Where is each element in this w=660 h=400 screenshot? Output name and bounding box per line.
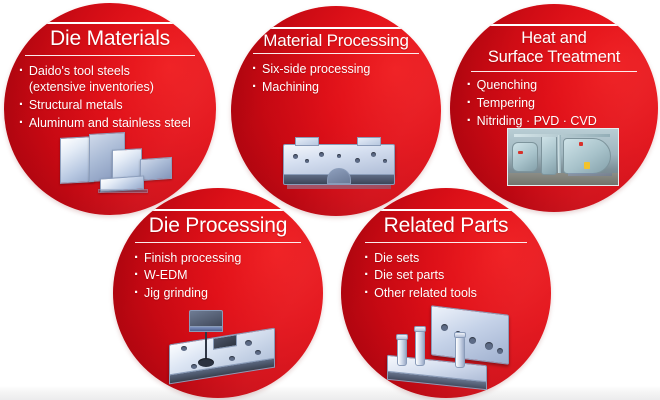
title-block-die-processing: Die Processing (135, 209, 301, 243)
bullet-list-heat-treatment: Quenching Tempering Nitriding · PVD · CV… (467, 77, 642, 131)
circle-die-materials[interactable]: Die Materials Daido's tool steels (exten… (4, 3, 216, 215)
circle-title: Die Materials (25, 24, 195, 55)
list-item: Quenching (467, 77, 642, 94)
list-item: Finish processing (134, 250, 302, 267)
list-item: W-EDM (134, 267, 302, 284)
bottom-gray-band (0, 386, 660, 400)
list-item: Die sets (364, 250, 528, 267)
furnace-chamber-left (512, 142, 538, 172)
diagram-canvas: Die Materials Daido's tool steels (exten… (0, 0, 660, 400)
title-block-material-processing: Material Processing (253, 27, 419, 54)
bullet-list-die-materials: Daido's tool steels (extensive inventori… (19, 63, 201, 134)
circle-title: Heat and Surface Treatment (471, 26, 637, 71)
circle-related-parts[interactable]: Related Parts Die sets Die set parts Oth… (341, 188, 551, 398)
title-block-heat-treatment: Heat and Surface Treatment (471, 24, 637, 72)
circle-die-processing[interactable]: Die Processing Finish processing W-EDM J… (113, 188, 323, 398)
title-block-die-materials: Die Materials (25, 22, 195, 56)
title-rule-bottom (25, 55, 195, 56)
title-rule-bottom (365, 242, 527, 243)
furnace-column (541, 135, 557, 175)
circle-title: Material Processing (253, 29, 419, 53)
circle-title: Related Parts (365, 211, 527, 242)
furnace-pipe-vertical (558, 135, 561, 173)
list-item: Machining (252, 79, 420, 96)
title-block-related-parts: Related Parts (365, 209, 527, 243)
bullet-list-material-processing: Six-side processing Machining (252, 61, 420, 97)
list-item: Daido's tool steels (extensive inventori… (19, 63, 201, 97)
list-item: Tempering (467, 95, 642, 112)
circle-material-processing[interactable]: Material Processing Six-side processing … (231, 6, 441, 216)
title-rule-bottom (135, 242, 301, 243)
list-item: Six-side processing (252, 61, 420, 78)
furnace-rail (568, 173, 612, 176)
circle-title: Die Processing (135, 211, 301, 242)
vacuum-furnace-photo (507, 128, 619, 186)
furnace-scene (508, 129, 618, 185)
list-item: Die set parts (364, 267, 528, 284)
list-item: Other related tools (364, 285, 528, 302)
furnace-pipe-top (514, 134, 610, 137)
title-rule-bottom (253, 53, 419, 54)
furnace-indicator-yellow (584, 162, 590, 169)
list-item: Aluminum and stainless steel (19, 115, 201, 132)
title-rule-bottom (471, 71, 637, 72)
bullet-list-related-parts: Die sets Die set parts Other related too… (364, 250, 528, 304)
list-item: Structural metals (19, 97, 201, 114)
list-item: Jig grinding (134, 285, 302, 302)
bullet-list-die-processing: Finish processing W-EDM Jig grinding (134, 250, 302, 304)
furnace-indicator-red (579, 142, 583, 146)
circle-heat-and-surface-treatment[interactable]: Heat and Surface Treatment Quenching Tem… (450, 4, 658, 212)
furnace-indicator-red (518, 151, 523, 154)
